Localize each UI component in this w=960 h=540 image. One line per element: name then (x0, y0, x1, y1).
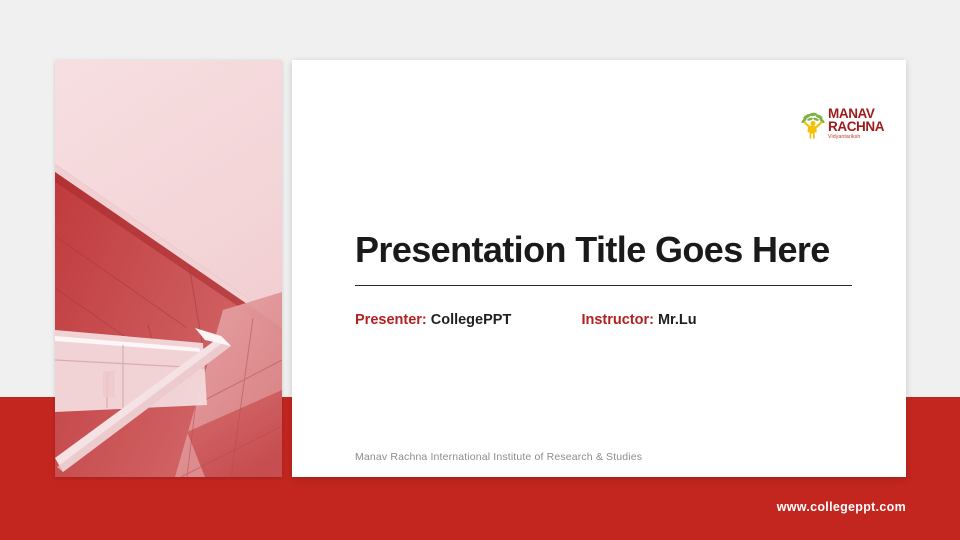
slide-meta-row: Presenter:CollegePPT Instructor:Mr.Lu (355, 310, 875, 332)
instructor-value: Mr.Lu (658, 312, 697, 328)
presentation-slide: www.collegeppt.com (0, 0, 960, 540)
logo-wordmark: MANAV RACHNA Vidyantariksh (828, 108, 884, 141)
logo-tagline: Vidyantariksh (828, 134, 884, 141)
logo-line-rachna: RACHNA (828, 121, 884, 134)
presenter-label: Presenter: (355, 312, 427, 328)
instructor-label: Instructor: (581, 312, 654, 328)
slide-content-card: MANAV RACHNA Vidyantariksh Presentation … (292, 60, 906, 477)
institution-footer: Manav Rachna International Institute of … (355, 451, 642, 463)
site-url-text: www.collegeppt.com (777, 500, 906, 514)
abstract-architecture-photo (55, 60, 282, 477)
instructor-field: Instructor:Mr.Lu (581, 310, 696, 330)
title-divider (355, 285, 852, 286)
presenter-value: CollegePPT (431, 312, 512, 328)
presenter-field: Presenter:CollegePPT (355, 310, 577, 330)
manav-rachna-logo: MANAV RACHNA Vidyantariksh (800, 108, 886, 141)
slide-title: Presentation Title Goes Here (355, 228, 875, 272)
tree-person-icon (800, 111, 826, 139)
